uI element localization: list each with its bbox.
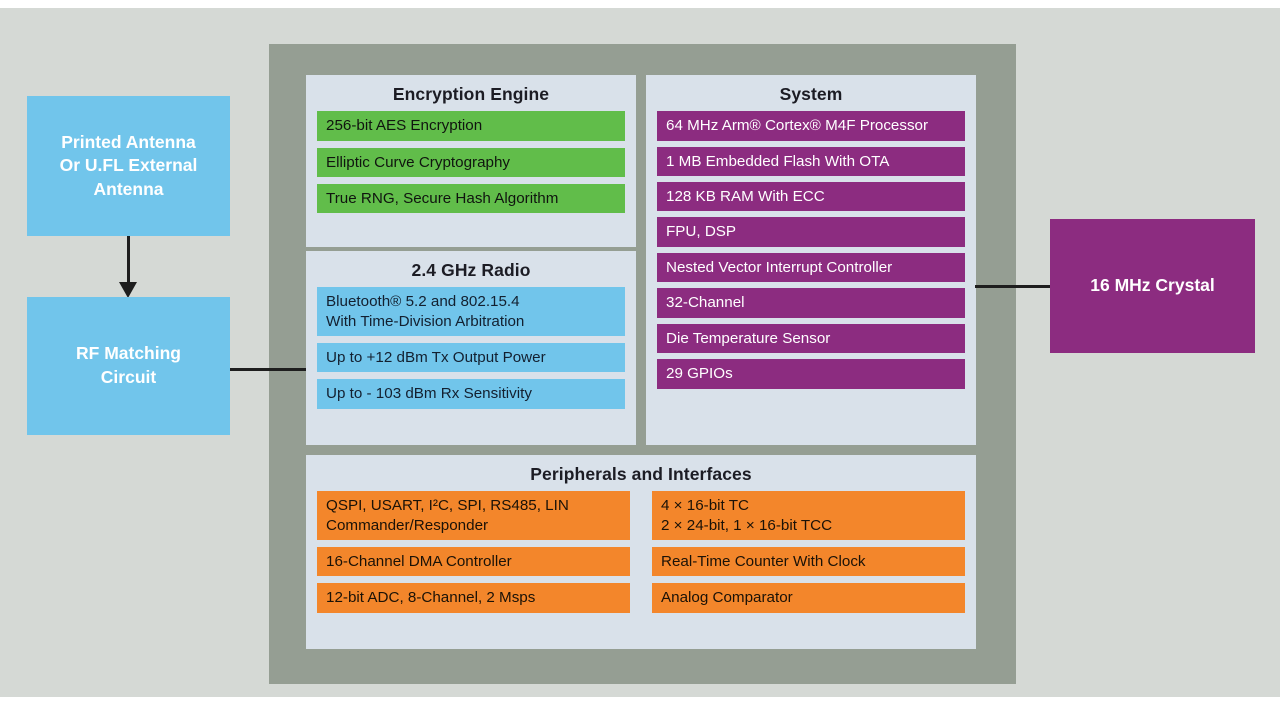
feature-item[interactable]: QSPI, USART, I²C, SPI, RS485, LIN Comman… [317, 491, 630, 540]
feature-item[interactable]: Bluetooth® 5.2 and 802.15.4 With Time-Di… [317, 287, 625, 336]
panel-peripherals-columns: QSPI, USART, I²C, SPI, RS485, LIN Comman… [306, 491, 976, 624]
panel-peripherals-and-interfaces: Peripherals and Interfaces QSPI, USART, … [306, 455, 976, 649]
block-crystal[interactable]: 16 MHz Crystal [1050, 219, 1255, 353]
feature-item[interactable]: Elliptic Curve Cryptography [317, 148, 625, 177]
feature-item[interactable]: 64 MHz Arm® Cortex® M4F Processor [657, 111, 965, 140]
feature-item[interactable]: 12-bit ADC, 8-Channel, 2 Msps [317, 583, 630, 612]
feature-item[interactable]: FPU, DSP [657, 217, 965, 246]
connector-antenna-to-rf-matching [127, 236, 130, 286]
connector-rf-matching-to-chip [230, 368, 307, 371]
feature-item[interactable]: Real-Time Counter With Clock [652, 547, 965, 576]
arrow-down-icon [119, 282, 137, 298]
block-printed-antenna-label: Printed Antenna Or U.FL External Antenna [60, 131, 198, 202]
peripherals-column-right: 4 × 16-bit TC 2 × 24-bit, 1 × 16-bit TCC… [652, 491, 965, 613]
feature-item[interactable]: Analog Comparator [652, 583, 965, 612]
feature-item[interactable]: True RNG, Secure Hash Algorithm [317, 184, 625, 213]
feature-item[interactable]: Up to - 103 dBm Rx Sensitivity [317, 379, 625, 408]
block-rf-matching-circuit[interactable]: RF Matching Circuit [27, 297, 230, 435]
feature-item[interactable]: 256-bit AES Encryption [317, 111, 625, 140]
panel-encryption-engine-items: 256-bit AES Encryption Elliptic Curve Cr… [306, 111, 636, 224]
panel-radio: 2.4 GHz Radio Bluetooth® 5.2 and 802.15.… [306, 251, 636, 445]
panel-encryption-engine: Encryption Engine 256-bit AES Encryption… [306, 75, 636, 247]
feature-item[interactable]: 1 MB Embedded Flash With OTA [657, 147, 965, 176]
connector-chip-to-crystal [975, 285, 1051, 288]
panel-peripherals-and-interfaces-title: Peripherals and Interfaces [306, 455, 976, 491]
panel-radio-title: 2.4 GHz Radio [306, 251, 636, 287]
panel-system-title: System [646, 75, 976, 111]
diagram-canvas: Printed Antenna Or U.FL External Antenna… [0, 0, 1280, 711]
block-rf-matching-circuit-label: RF Matching Circuit [76, 342, 181, 389]
feature-item[interactable]: Up to +12 dBm Tx Output Power [317, 343, 625, 372]
feature-item[interactable]: 16-Channel DMA Controller [317, 547, 630, 576]
panel-encryption-engine-title: Encryption Engine [306, 75, 636, 111]
feature-item[interactable]: 128 KB RAM With ECC [657, 182, 965, 211]
peripherals-column-left: QSPI, USART, I²C, SPI, RS485, LIN Comman… [317, 491, 630, 613]
feature-item[interactable]: Die Temperature Sensor [657, 324, 965, 353]
feature-item[interactable]: Nested Vector Interrupt Controller [657, 253, 965, 282]
panel-system: System 64 MHz Arm® Cortex® M4F Processor… [646, 75, 976, 445]
feature-item[interactable]: 32-Channel [657, 288, 965, 317]
block-printed-antenna[interactable]: Printed Antenna Or U.FL External Antenna [27, 96, 230, 236]
block-crystal-label: 16 MHz Crystal [1090, 274, 1215, 298]
diagram-stage: Printed Antenna Or U.FL External Antenna… [0, 8, 1280, 697]
feature-item[interactable]: 4 × 16-bit TC 2 × 24-bit, 1 × 16-bit TCC [652, 491, 965, 540]
panel-system-items: 64 MHz Arm® Cortex® M4F Processor 1 MB E… [646, 111, 976, 406]
panel-radio-items: Bluetooth® 5.2 and 802.15.4 With Time-Di… [306, 287, 636, 420]
feature-item[interactable]: 29 GPIOs [657, 359, 965, 388]
